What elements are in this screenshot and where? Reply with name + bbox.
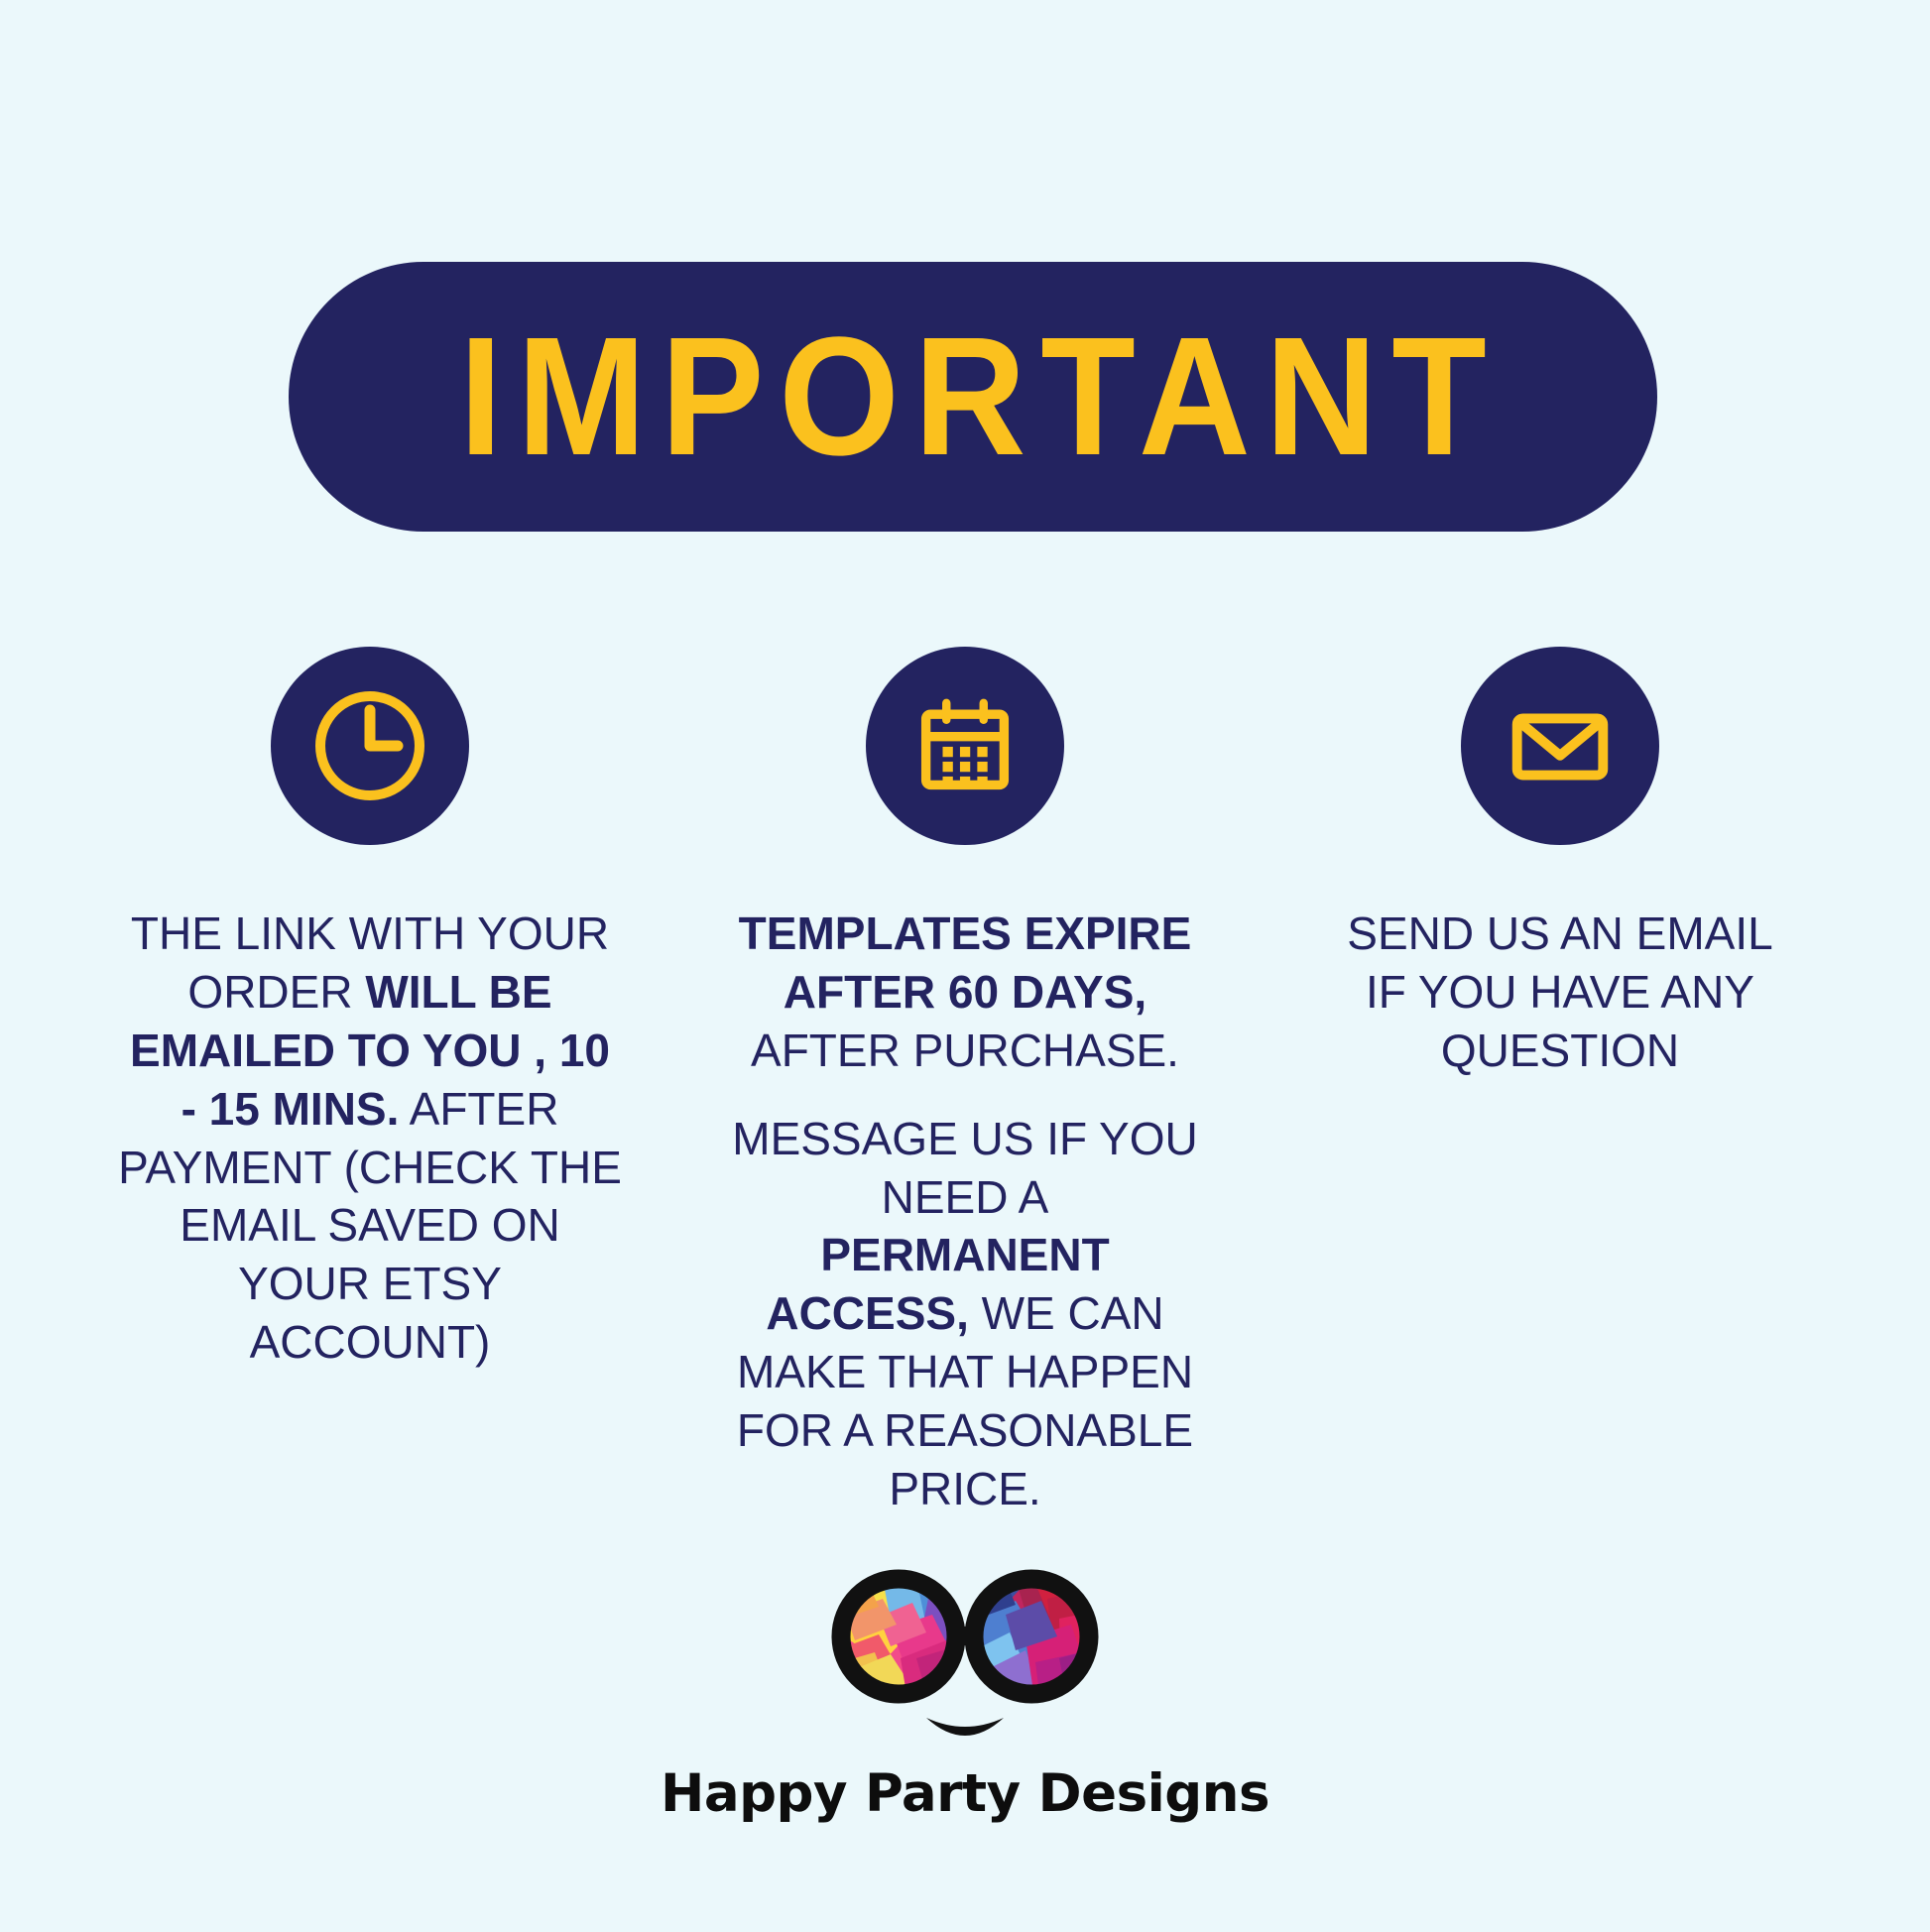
info-column-delivery-text: THE LINK WITH YOUR ORDER WILL BE EMAILED… (117, 905, 623, 1372)
text-line: SEND US AN EMAIL IF YOU HAVE ANY QUESTIO… (1322, 905, 1798, 1080)
calendar-icon-badge (866, 647, 1064, 845)
envelope-icon-badge (1461, 647, 1659, 845)
sunglasses-smile-logo-icon (821, 1559, 1109, 1757)
text-line: THE LINK WITH YOUR ORDER WILL BE EMAILED… (117, 905, 623, 1372)
info-column-contact: SEND US AN EMAIL IF YOU HAVE ANY QUESTIO… (1263, 647, 1858, 1080)
clock-icon-badge (271, 647, 469, 845)
brand-name: Happy Party Designs (661, 1763, 1269, 1824)
clock-icon (306, 682, 433, 809)
text-line: TEMPLATES EXPIRE AFTER 60 DAYS, AFTER PU… (732, 905, 1198, 1080)
important-banner: IMPORTANT (289, 262, 1657, 532)
page-title: IMPORTANT (444, 312, 1501, 481)
brand-logo-block: Happy Party Designs (0, 1559, 1930, 1824)
calendar-icon (905, 686, 1025, 805)
envelope-icon (1498, 683, 1623, 808)
info-column-delivery: THE LINK WITH YOUR ORDER WILL BE EMAILED… (72, 647, 667, 1372)
info-column-expiry-text: TEMPLATES EXPIRE AFTER 60 DAYS, AFTER PU… (732, 905, 1198, 1518)
info-column-expiry: TEMPLATES EXPIRE AFTER 60 DAYS, AFTER PU… (667, 647, 1263, 1518)
info-columns: THE LINK WITH YOUR ORDER WILL BE EMAILED… (0, 647, 1930, 1518)
info-column-contact-text: SEND US AN EMAIL IF YOU HAVE ANY QUESTIO… (1322, 905, 1798, 1080)
text-line: MESSAGE US IF YOU NEED A PERMANENT ACCES… (732, 1110, 1198, 1518)
